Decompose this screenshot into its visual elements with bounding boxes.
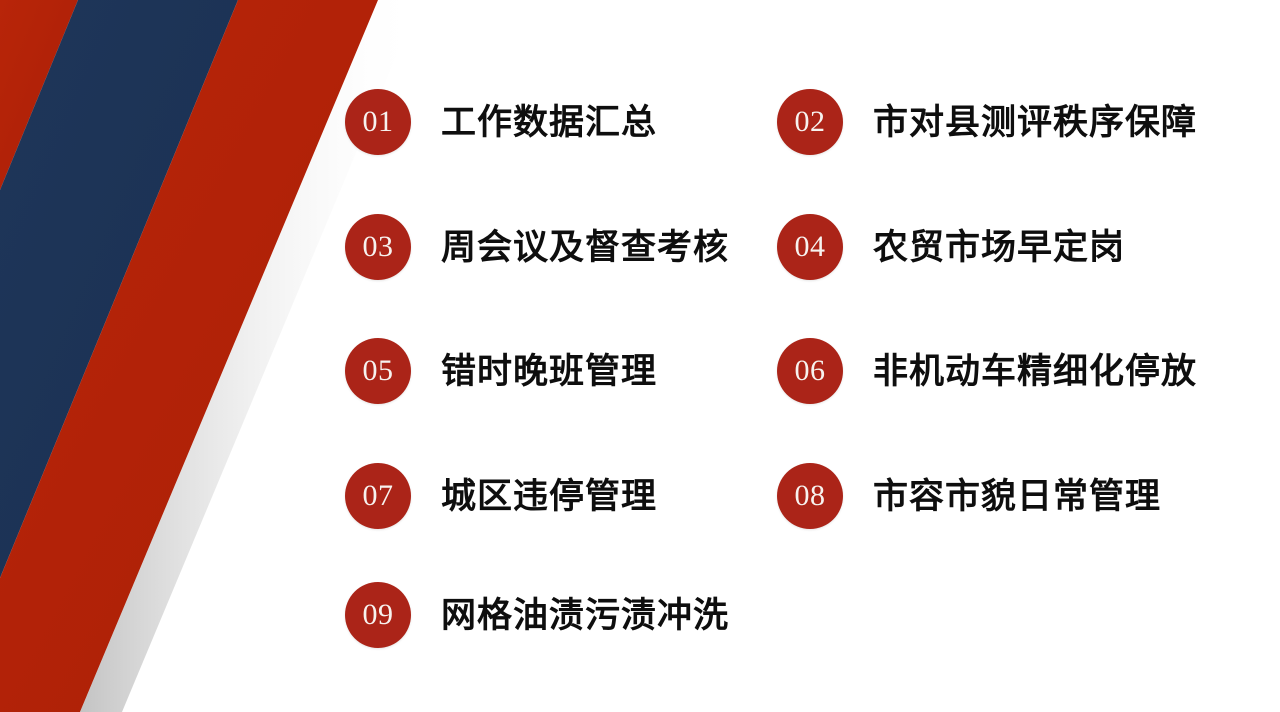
item-label: 市容市貌日常管理 bbox=[873, 479, 1161, 514]
list-item[interactable]: 03 周会议及督查考核 bbox=[345, 207, 729, 287]
stripe-red-main bbox=[0, 0, 378, 712]
stripe-blue bbox=[0, 0, 238, 578]
item-label: 网格油渍污渍冲洗 bbox=[441, 598, 729, 633]
item-label: 市对县测评秩序保障 bbox=[873, 105, 1197, 140]
item-label: 错时晚班管理 bbox=[441, 354, 657, 389]
stripe-red-outer bbox=[0, 0, 78, 190]
item-number-badge: 03 bbox=[345, 214, 411, 280]
item-number-badge: 02 bbox=[777, 89, 843, 155]
item-number-badge: 01 bbox=[345, 89, 411, 155]
item-label: 工作数据汇总 bbox=[441, 105, 657, 140]
list-item[interactable]: 06 非机动车精细化停放 bbox=[777, 331, 1197, 411]
list-item[interactable]: 09 网格油渍污渍冲洗 bbox=[345, 575, 729, 655]
list-item[interactable]: 07 城区违停管理 bbox=[345, 456, 657, 536]
agenda-list: 01 工作数据汇总 02 市对县测评秩序保障 03 周会议及督查考核 04 农贸… bbox=[345, 0, 1280, 712]
item-number-badge: 06 bbox=[777, 338, 843, 404]
list-item[interactable]: 01 工作数据汇总 bbox=[345, 82, 657, 162]
item-number-badge: 04 bbox=[777, 214, 843, 280]
slide-canvas: 01 工作数据汇总 02 市对县测评秩序保障 03 周会议及督查考核 04 农贸… bbox=[0, 0, 1280, 712]
item-label: 城区违停管理 bbox=[441, 479, 657, 514]
item-label: 农贸市场早定岗 bbox=[873, 230, 1125, 265]
item-number-badge: 07 bbox=[345, 463, 411, 529]
list-item[interactable]: 05 错时晚班管理 bbox=[345, 331, 657, 411]
item-number-badge: 08 bbox=[777, 463, 843, 529]
list-item[interactable]: 02 市对县测评秩序保障 bbox=[777, 82, 1197, 162]
item-label: 非机动车精细化停放 bbox=[873, 354, 1197, 389]
item-number-badge: 09 bbox=[345, 582, 411, 648]
item-number-badge: 05 bbox=[345, 338, 411, 404]
list-item[interactable]: 04 农贸市场早定岗 bbox=[777, 207, 1125, 287]
item-label: 周会议及督查考核 bbox=[441, 230, 729, 265]
list-item[interactable]: 08 市容市貌日常管理 bbox=[777, 456, 1161, 536]
